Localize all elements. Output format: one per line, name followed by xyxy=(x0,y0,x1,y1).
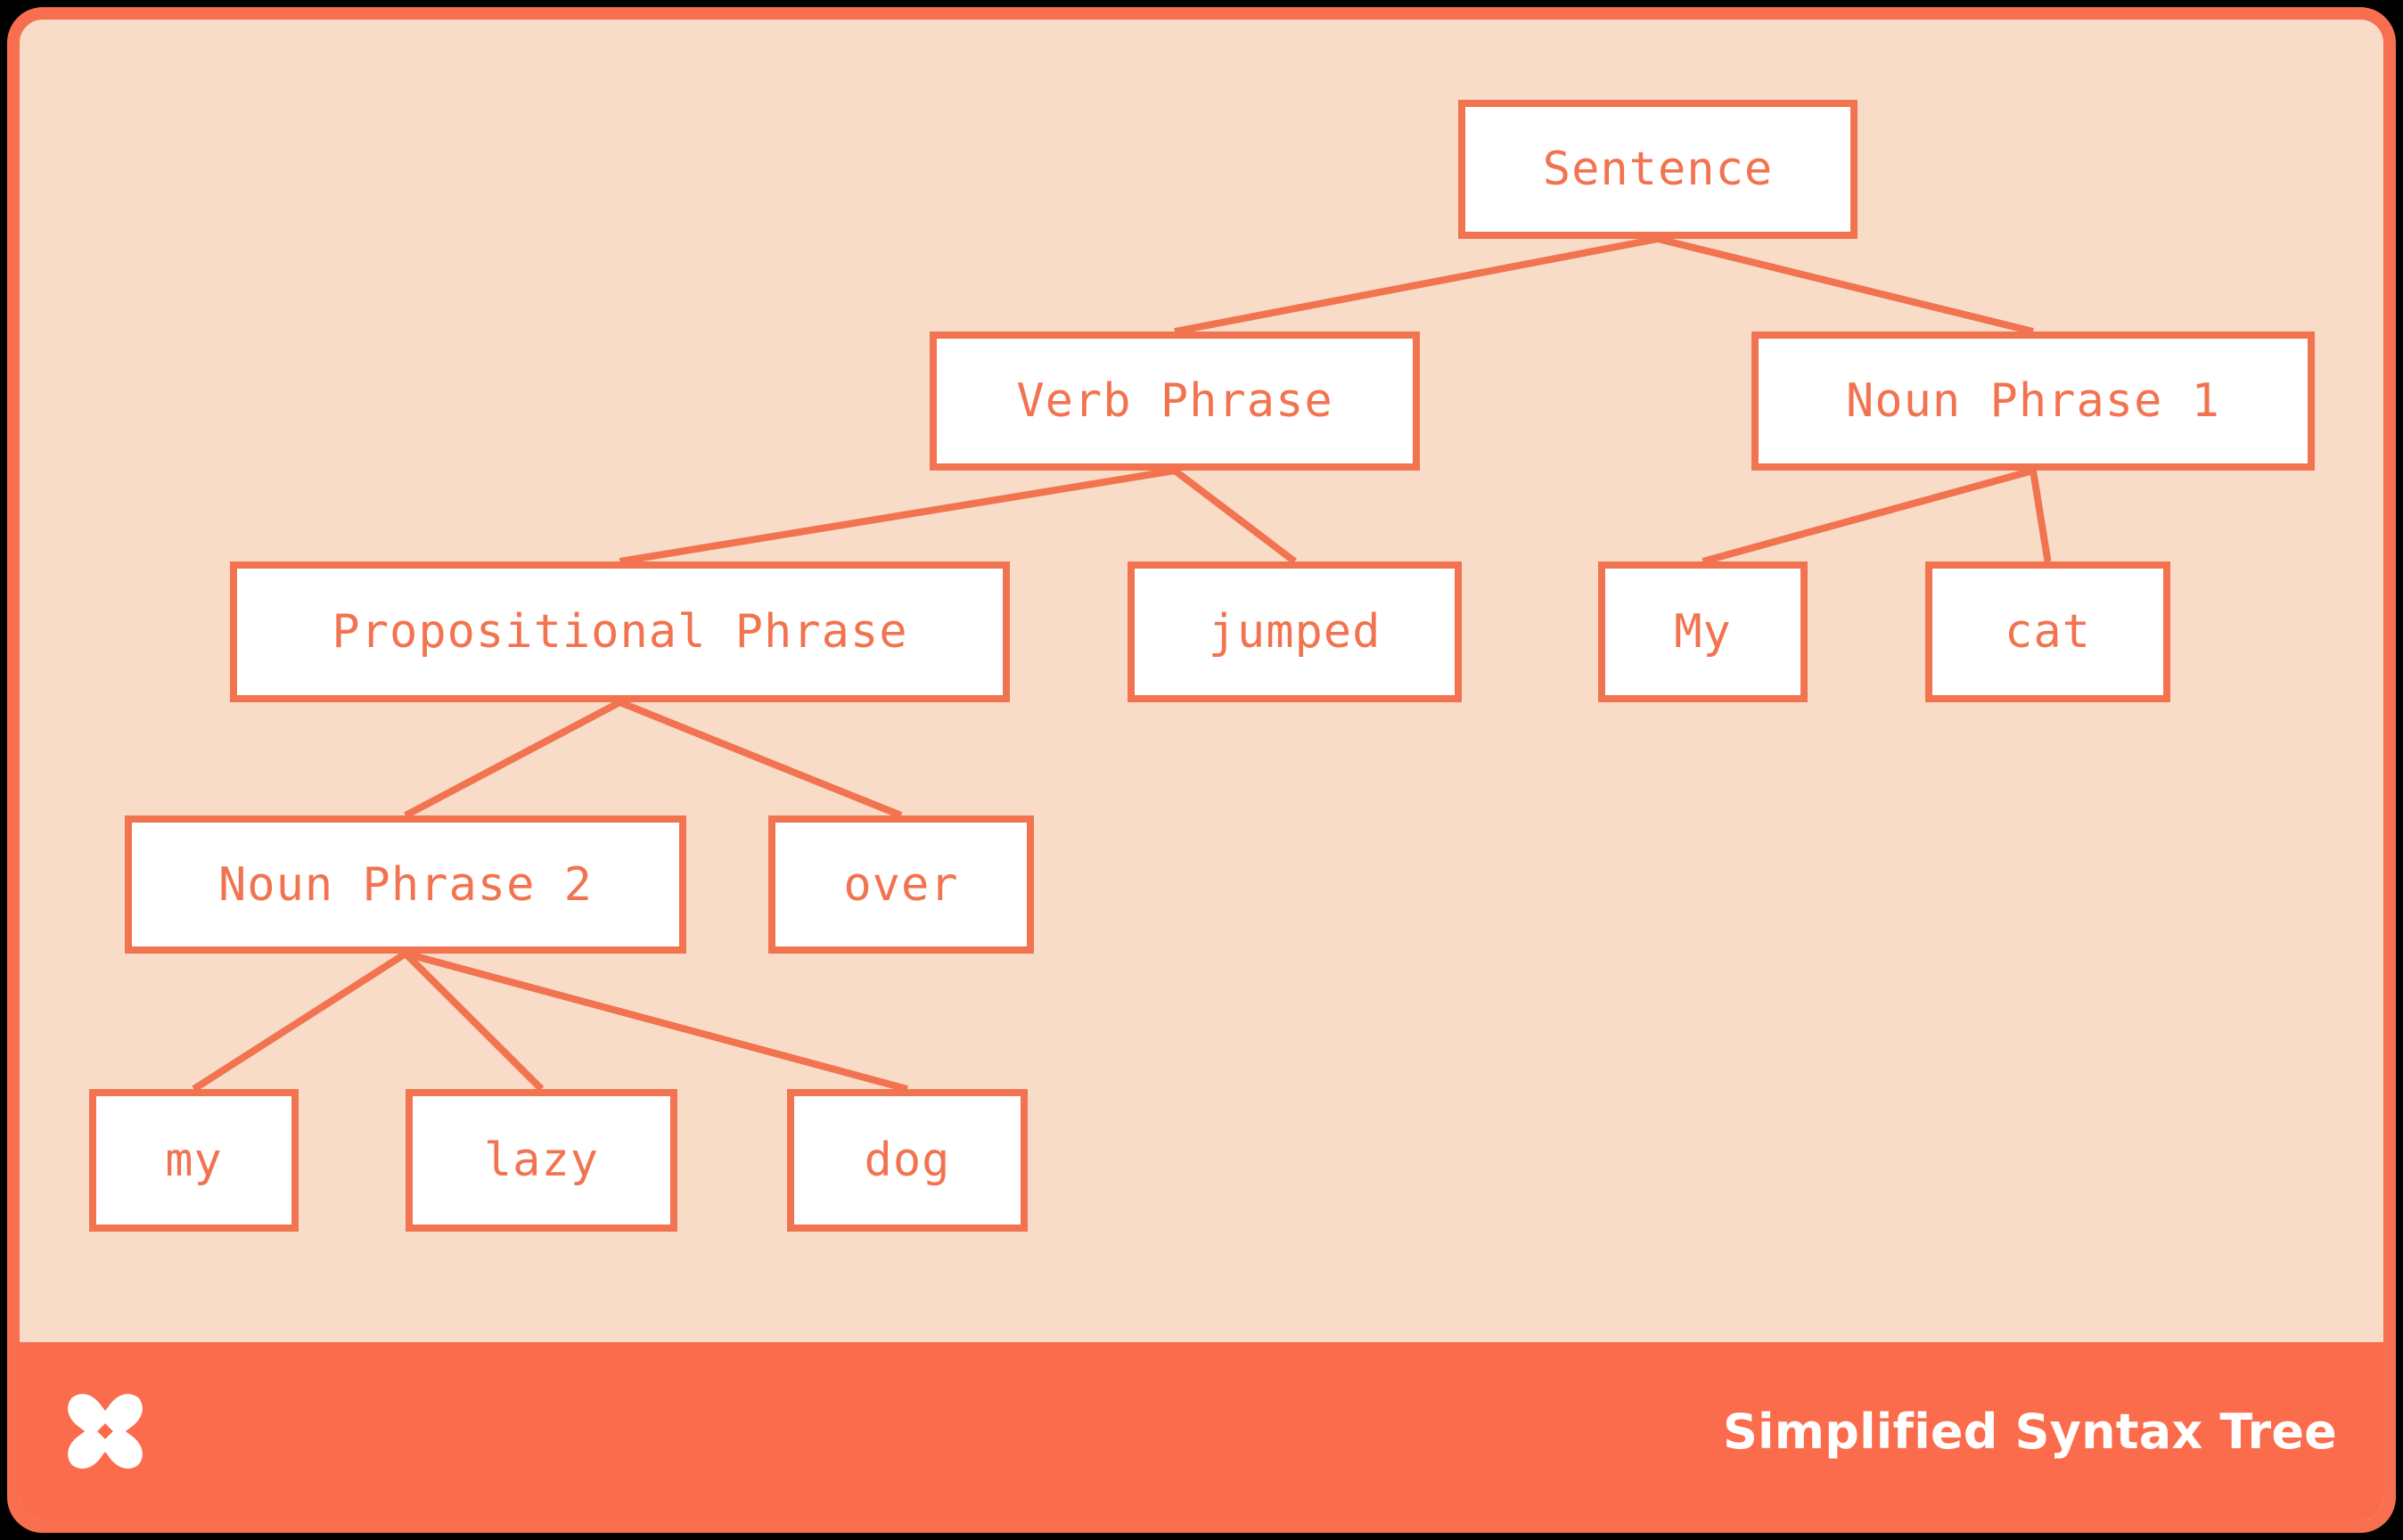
tree-node-noun_phrase_2[interactable]: Noun Phrase 2 xyxy=(125,815,686,954)
tree-node-lazy[interactable]: lazy xyxy=(406,1089,677,1232)
footer-bar: Simplified Syntax Tree xyxy=(20,1342,2383,1520)
screenshot-canvas: SentenceVerb PhraseNoun Phrase 1Proposit… xyxy=(0,0,2403,1540)
syntax-tree-diagram: SentenceVerb PhraseNoun Phrase 1Proposit… xyxy=(20,20,2383,1520)
tree-edge xyxy=(406,954,542,1089)
tree-node-label: Verb Phrase xyxy=(1016,378,1333,424)
tree-node-prop_phrase[interactable]: Propositional Phrase xyxy=(230,561,1010,702)
tree-edge xyxy=(406,954,907,1089)
tree-node-cat[interactable]: cat xyxy=(1925,561,2170,702)
x-pinwheel-logo-icon xyxy=(59,1385,152,1478)
diagram-card: SentenceVerb PhraseNoun Phrase 1Proposit… xyxy=(7,7,2396,1533)
tree-node-label: dog xyxy=(865,1137,951,1184)
tree-edge xyxy=(1658,239,2033,332)
tree-edge xyxy=(194,954,406,1089)
tree-edge xyxy=(2033,471,2048,561)
tree-node-label: lazy xyxy=(484,1137,599,1184)
tree-node-label: over xyxy=(843,862,958,908)
tree-node-label: Noun Phrase 1 xyxy=(1846,378,2220,424)
tree-node-jumped[interactable]: jumped xyxy=(1128,561,1462,702)
tree-node-label: jumped xyxy=(1209,609,1382,655)
tree-edge xyxy=(620,702,902,815)
tree-node-noun_phrase_1[interactable]: Noun Phrase 1 xyxy=(1751,332,2315,471)
tree-node-label: cat xyxy=(2005,609,2091,655)
tree-node-label: My xyxy=(1674,609,1732,655)
tree-node-my_cap[interactable]: My xyxy=(1598,561,1808,702)
tree-edge xyxy=(1175,239,1658,332)
tree-edge xyxy=(406,702,620,815)
tree-edge xyxy=(620,471,1176,561)
tree-node-label: Sentence xyxy=(1543,146,1773,192)
tree-edge xyxy=(1175,471,1295,561)
tree-edge xyxy=(1703,471,2034,561)
tree-node-over[interactable]: over xyxy=(768,815,1034,954)
tree-node-label: Propositional Phrase xyxy=(332,609,907,655)
tree-node-dog[interactable]: dog xyxy=(787,1089,1028,1232)
tree-node-sentence[interactable]: Sentence xyxy=(1458,100,1858,239)
tree-node-label: my xyxy=(165,1137,223,1184)
tree-connectors xyxy=(20,20,2383,1520)
tree-node-verb_phrase[interactable]: Verb Phrase xyxy=(930,332,1420,471)
tree-node-my_lower[interactable]: my xyxy=(89,1089,299,1232)
tree-node-label: Noun Phrase 2 xyxy=(218,862,593,908)
footer-title: Simplified Syntax Tree xyxy=(1723,1404,2337,1460)
